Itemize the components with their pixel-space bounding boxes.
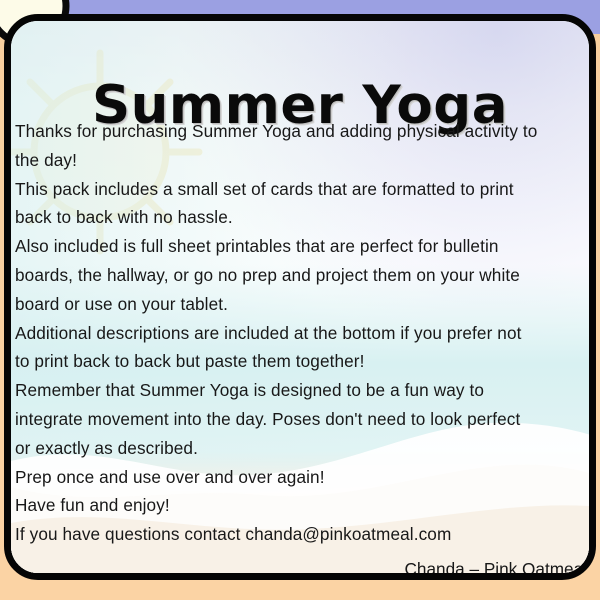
body-line: Also included is full sheet printables t… xyxy=(15,232,596,261)
poster-page: Summer Yoga Thanks for purchasing Summer… xyxy=(0,0,600,600)
body-line: Additional descriptions are included at … xyxy=(15,319,596,348)
body-line: Thanks for purchasing Summer Yoga and ad… xyxy=(15,117,596,146)
body-line: boards, the hallway, or go no prep and p… xyxy=(15,261,596,290)
body-line: or exactly as described. xyxy=(15,434,596,463)
body-line: the day! xyxy=(15,146,596,175)
body-line: to print back to back but paste them tog… xyxy=(15,347,596,376)
signature: Chanda – Pink Oatmeal xyxy=(11,557,587,580)
body-line: Prep once and use over and over again! xyxy=(15,463,596,492)
poster-card: Summer Yoga Thanks for purchasing Summer… xyxy=(4,14,596,580)
poster-content: Summer Yoga Thanks for purchasing Summer… xyxy=(11,21,589,573)
body-copy: Thanks for purchasing Summer Yoga and ad… xyxy=(15,117,596,549)
body-line: back to back with no hassle. xyxy=(15,203,596,232)
body-line: This pack includes a small set of cards … xyxy=(15,175,596,204)
contact-line: If you have questions contact chanda@pin… xyxy=(15,520,596,549)
body-line: board or use on your tablet. xyxy=(15,290,596,319)
body-line: Remember that Summer Yoga is designed to… xyxy=(15,376,596,405)
body-line: integrate movement into the day. Poses d… xyxy=(15,405,596,434)
body-line: Have fun and enjoy! xyxy=(15,491,596,520)
